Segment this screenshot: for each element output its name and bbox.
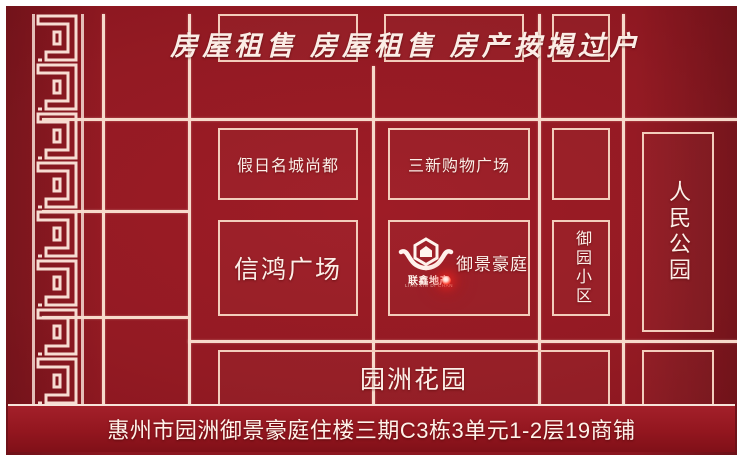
featured-block-label: 御景豪庭 <box>456 250 528 275</box>
road-horizontal-2 <box>188 118 737 121</box>
road-horizontal-5 <box>188 340 737 343</box>
footer-address-text: 惠州市园洲御景豪庭住楼三期C3栋3单元1-2层19商铺 <box>107 413 635 445</box>
border-rail-right <box>81 14 84 406</box>
location-marker-icon <box>442 276 451 285</box>
map-block-label: 假日名城尚都 <box>237 152 339 176</box>
road-vertical-2 <box>188 14 191 406</box>
map-block-sanxin-mall[interactable]: 三新购物广场 <box>388 128 530 200</box>
poster-header: 房屋租售 房屋租售 房产按揭过户 <box>146 20 666 66</box>
map-block-yuyuan-community[interactable]: 御园小区 <box>552 220 610 316</box>
map-block-label: 信鸿广场 <box>234 250 342 286</box>
greek-key-border-icon <box>32 14 84 406</box>
map-block-yujing-haoting[interactable]: 联鑫地产 LIAN XIN DI CHAN 御景豪庭 <box>388 220 530 316</box>
map-block-renmin-park[interactable]: 人民公园 <box>642 132 714 332</box>
map-block-label: 御园小区 <box>569 230 593 306</box>
map-block-unlabeled-5[interactable] <box>642 350 714 406</box>
featured-block-inner: 联鑫地产 LIAN XIN DI CHAN 御景豪庭 <box>390 222 528 314</box>
footer-address-band: 惠州市园洲御景豪庭住楼三期C3栋3单元1-2层19商铺 <box>8 404 735 452</box>
map-block-jiari-mingcheng[interactable]: 假日名城尚都 <box>218 128 358 200</box>
map-block-label: 三新购物广场 <box>408 152 510 176</box>
map-block-xinhong-plaza[interactable]: 信鸿广场 <box>218 220 358 316</box>
header-title: 房屋租售 房屋租售 房产按揭过户 <box>170 24 642 63</box>
poster-image: 房屋租售 房屋租售 房产按揭过户 <box>0 0 743 461</box>
map-block-label: 园洲花园 <box>360 360 468 396</box>
road-vertical-5 <box>622 14 625 406</box>
map-block-unlabeled-4[interactable] <box>552 128 610 200</box>
poster-red-panel: 房屋租售 房屋租售 房产按揭过户 <box>6 6 737 455</box>
border-rail-left <box>32 14 35 406</box>
map-block-label: 人民公园 <box>662 180 694 284</box>
road-vertical-4 <box>538 14 541 406</box>
map-block-yuanzhou-garden[interactable]: 园洲花园 <box>218 350 610 406</box>
